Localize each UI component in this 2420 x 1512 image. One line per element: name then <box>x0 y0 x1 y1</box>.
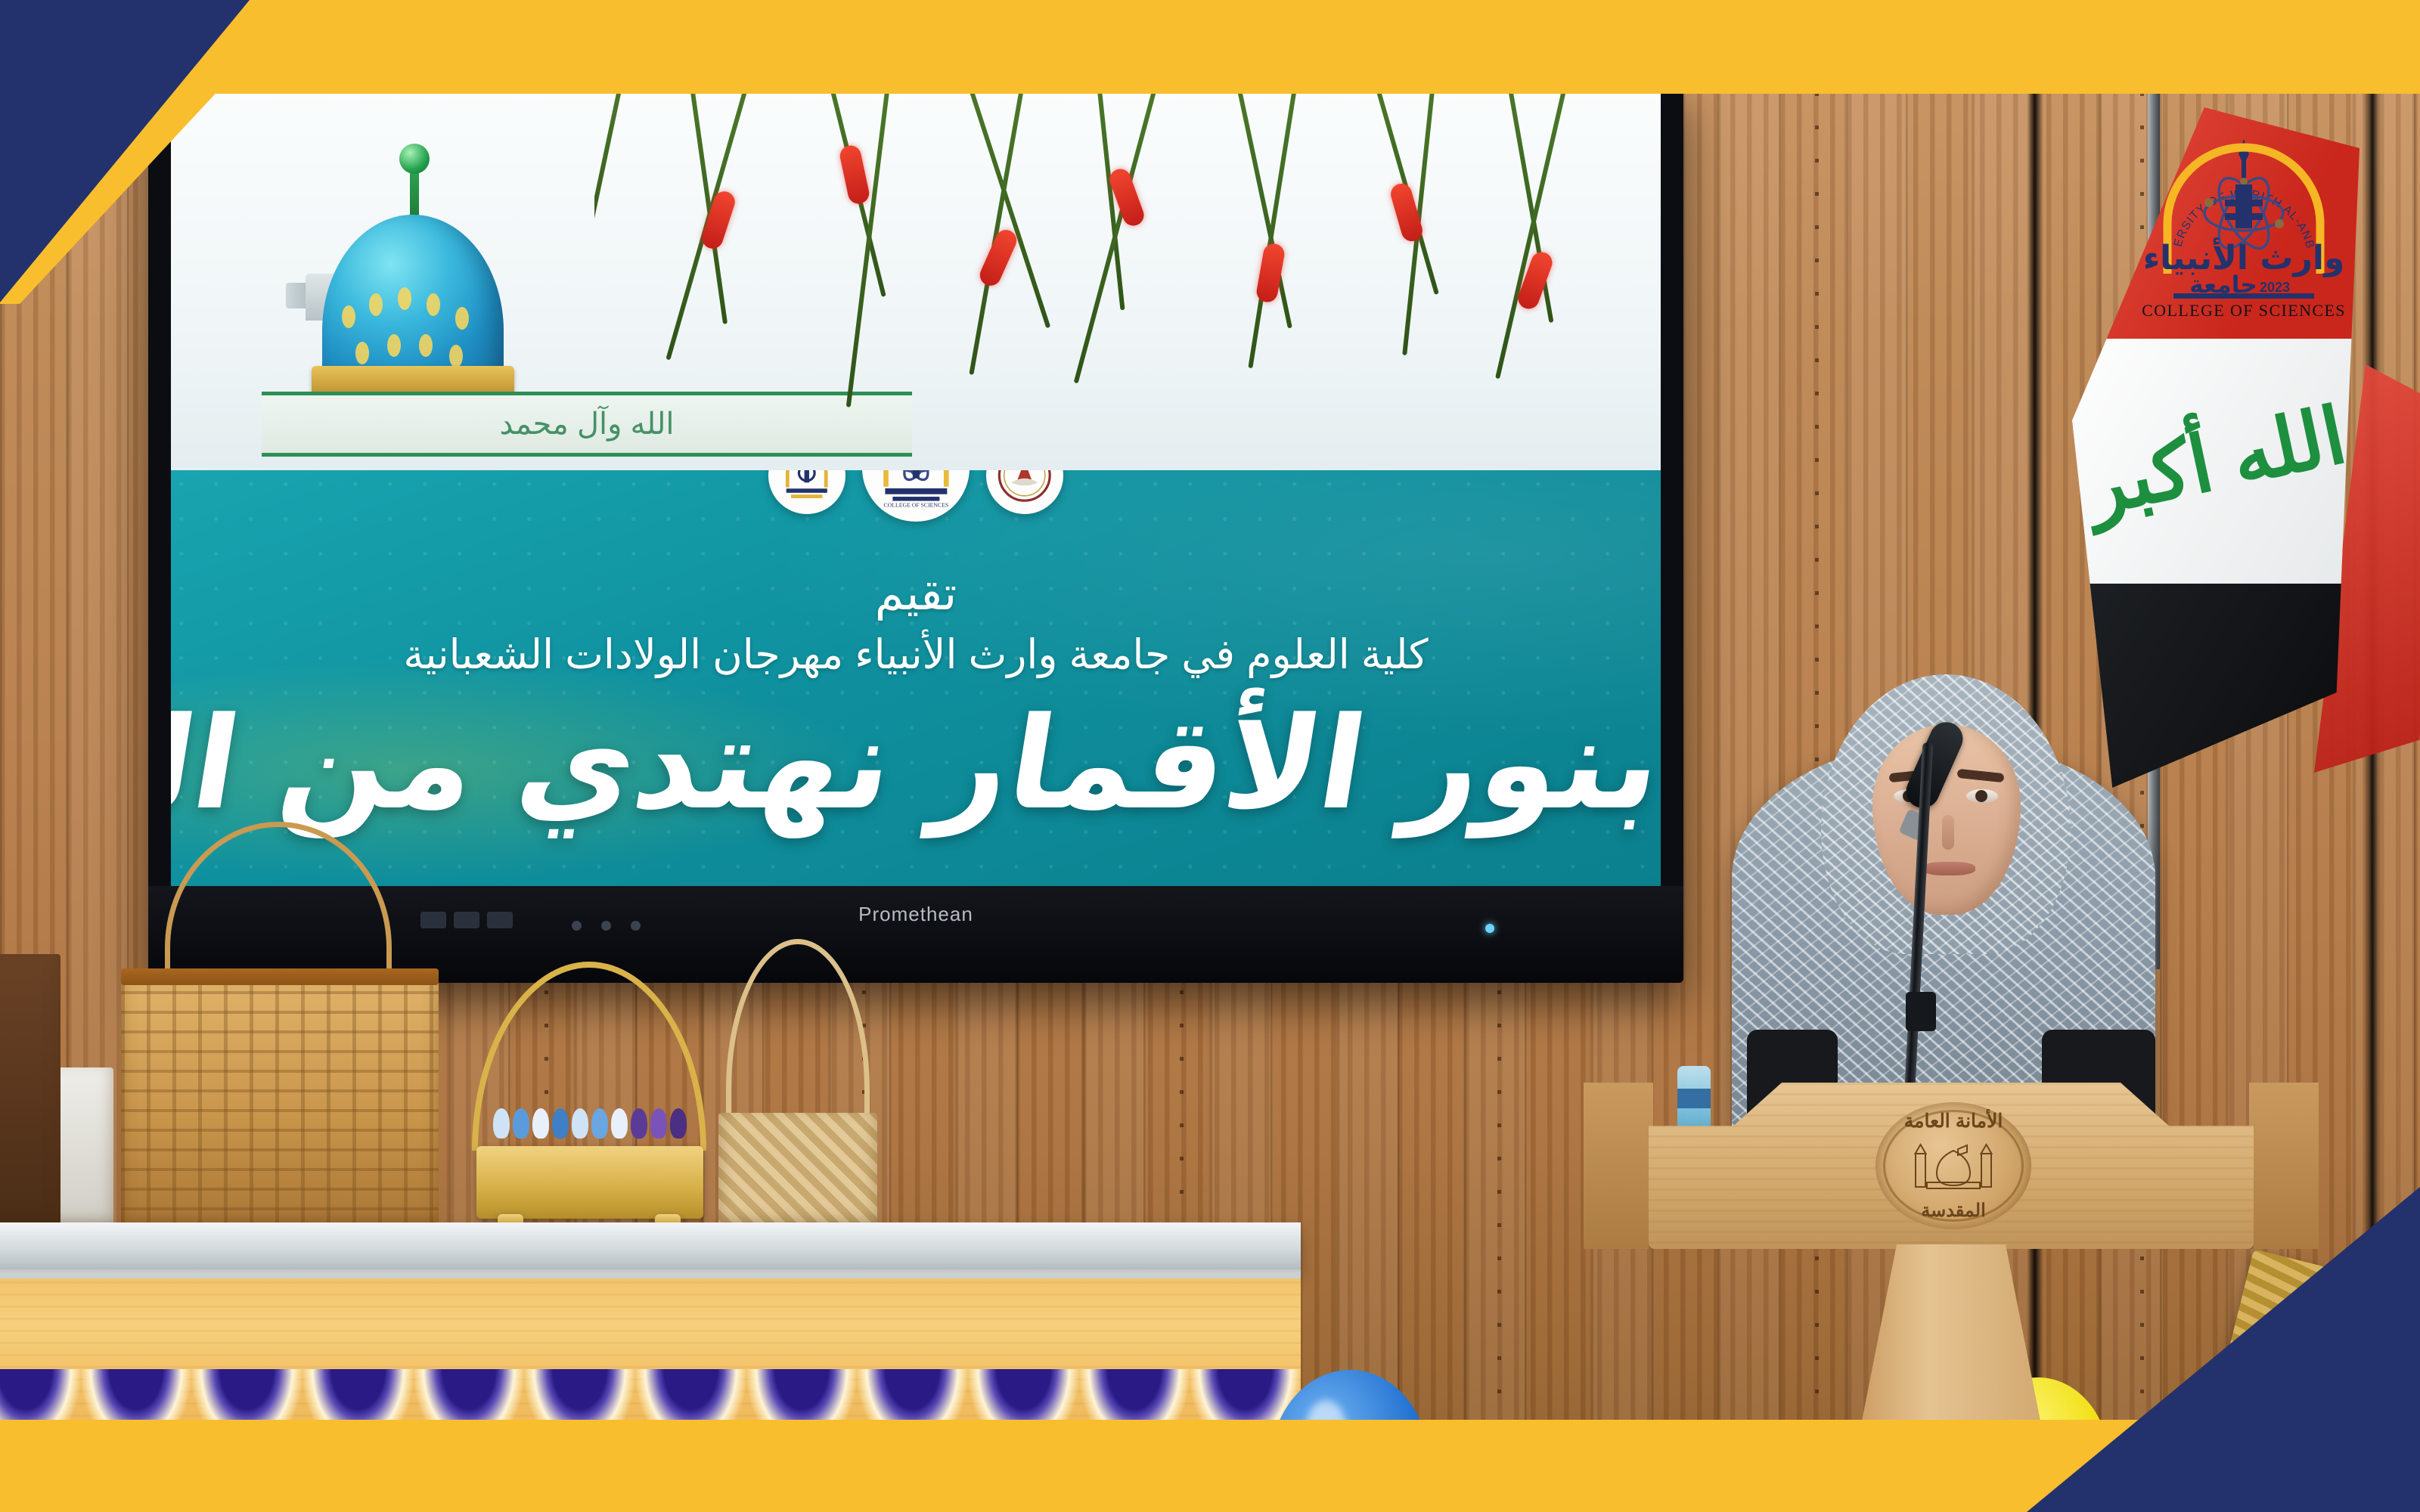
speaking-podium: الأمانة العامة المقدسة <box>1649 1083 2254 1423</box>
basket-rim <box>121 968 439 985</box>
event-photograph: الله وآل محمد <box>0 92 2420 1423</box>
podium-left-wing <box>1584 1083 1653 1249</box>
warith-al-anbiyaa-logo-small-left-icon <box>768 470 845 514</box>
display-dot[interactable] <box>572 921 582 931</box>
display-power-led-icon <box>1485 924 1494 933</box>
al-abbas-holy-shrine-emblem: الأمانة العامة المقدسة <box>1875 1102 2031 1229</box>
lips <box>1922 862 1975 875</box>
eye <box>1966 789 1998 803</box>
table-scalloped-trim <box>0 1369 1301 1423</box>
display-button[interactable] <box>454 912 479 928</box>
woven-wicker-basket-large <box>121 965 439 1230</box>
foliage-branches <box>594 92 1661 482</box>
logo-year: 2023 <box>2260 280 2290 295</box>
emblem-top-text: الأمانة العامة <box>1875 1110 2031 1132</box>
slide-photo-area: الله وآل محمد <box>171 92 1661 482</box>
display-brand-label: Promethean <box>858 903 973 926</box>
gold-decorative-basket-with-flowers <box>461 984 718 1230</box>
university-of-warith-al-anbiyaa-college-of-sciences-logo: UNIVERSITY OF WARITH AL-ANBIYAA وارث الأ… <box>2134 135 2353 324</box>
top-frame-band <box>0 0 2420 94</box>
display-button-cluster[interactable] <box>420 912 513 928</box>
gold-tray <box>476 1146 703 1219</box>
basket-flowers <box>493 1108 687 1139</box>
emblem-bottom-text: المقدسة <box>1875 1200 2031 1222</box>
svg-text:COLLEGE OF SCIENCES: COLLEGE OF SCIENCES <box>883 501 948 508</box>
panel-body <box>0 954 60 1234</box>
podium-column <box>1838 1244 2065 1423</box>
slide-heading-line2: كلية العلوم في جامعة وارث الأنبياء مهرجا… <box>171 631 1661 678</box>
podium-right-wing <box>2249 1083 2319 1249</box>
microphone-base <box>1906 992 1936 1031</box>
display-button[interactable] <box>487 912 513 928</box>
slide-calligraphy-title: بنور الأقمار نهتدي من الحسين الى المهدي <box>171 691 1661 837</box>
display-shelf <box>0 1222 1301 1272</box>
promethean-interactive-display[interactable]: الله وآل محمد <box>148 92 1683 983</box>
dome-spire <box>410 166 419 222</box>
dark-wooden-panel-prop <box>0 954 60 1234</box>
display-dot[interactable] <box>631 921 641 931</box>
basket-body <box>121 981 439 1230</box>
screenshot-root: الله وآل محمد <box>0 0 2420 1512</box>
slide-logo-row: COLLEGE OF SCIENCES <box>171 470 1661 522</box>
festival-emblem-right-icon <box>986 470 1063 514</box>
display-dot[interactable] <box>601 921 611 931</box>
slide-teal-banner: COLLEGE OF SCIENCES <box>171 470 1661 886</box>
shrine-icon <box>1908 1137 1999 1194</box>
warith-al-anbiyaa-college-of-sciences-logo-center-icon: COLLEGE OF SCIENCES <box>862 470 970 522</box>
logo-english-bottom: COLLEGE OF SCIENCES <box>2142 301 2346 320</box>
basket-handle <box>726 939 870 1120</box>
woven-wicker-basket-tall <box>718 939 877 1230</box>
eyebrow <box>1957 769 2005 782</box>
display-button[interactable] <box>420 912 446 928</box>
wooden-display-table <box>0 1269 1301 1423</box>
display-control-dots[interactable] <box>572 921 641 931</box>
slide-heading-line1: تقيم <box>171 565 1661 621</box>
display-screen[interactable]: الله وآل محمد <box>171 92 1661 886</box>
basket-body <box>718 1113 877 1230</box>
nose <box>1942 815 1954 850</box>
